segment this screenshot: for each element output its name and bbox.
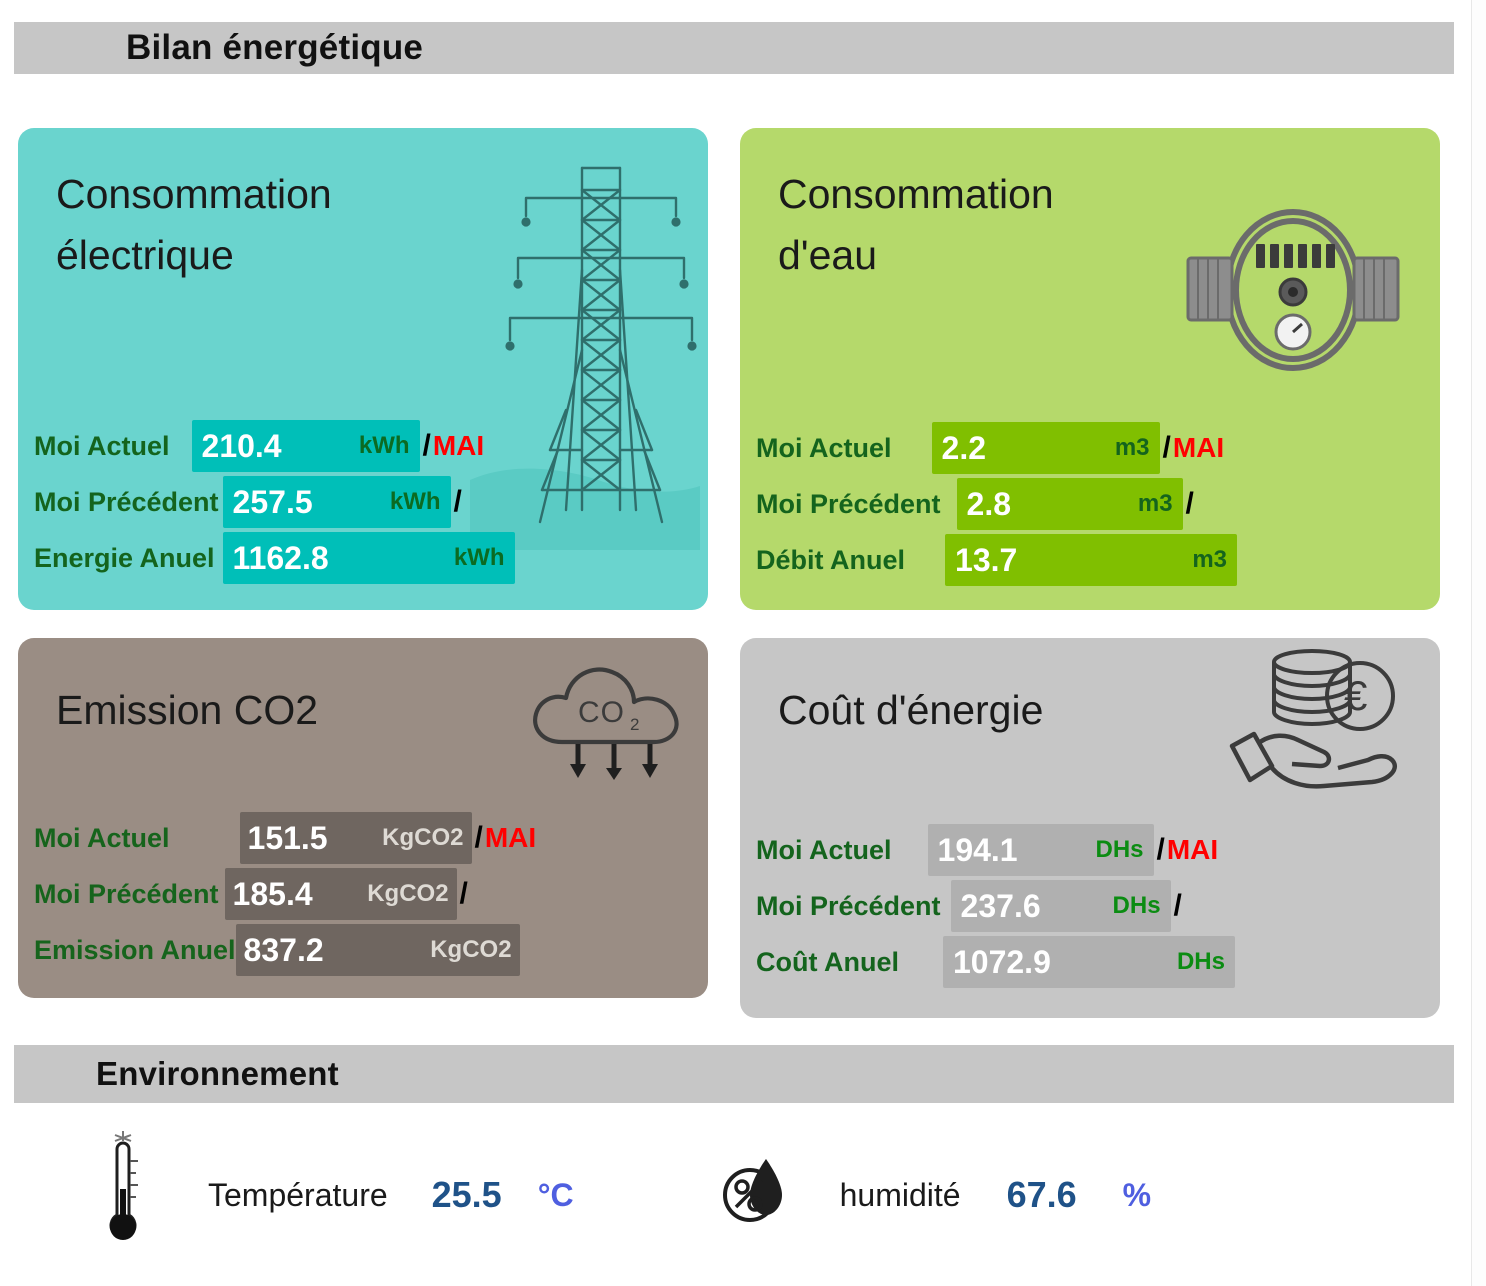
card-water-consumption[interactable]: Consommation d'eau (740, 128, 1440, 610)
svg-text:2: 2 (630, 715, 639, 734)
metric-value: 1072.9 (953, 944, 1051, 981)
metric-unit: m3 (1192, 546, 1227, 574)
metric-value: 194.1 (938, 832, 1018, 869)
metric-chip: 13.7 m3 (945, 534, 1237, 586)
metric-row: Moi Actuel 151.5 KgCO2 / MAI (34, 810, 708, 866)
humidity-reading: humidité 67.6 % (722, 1155, 1151, 1236)
humidity-value: 67.6 (1007, 1174, 1077, 1216)
metric-separator: / (423, 429, 431, 463)
metric-unit: m3 (1138, 490, 1173, 518)
metric-month: MAI (1173, 432, 1224, 464)
section-header-energy-balance: Bilan énergétique (14, 22, 1454, 74)
metric-value: 151.5 (248, 820, 328, 857)
metric-separator: / (454, 485, 462, 519)
metric-month: MAI (485, 822, 536, 854)
cost-metric-rows: Moi Actuel 194.1 DHs / MAI Moi Précédent… (756, 822, 1440, 990)
metric-label: Moi Précédent (34, 487, 219, 518)
metric-value: 837.2 (244, 932, 324, 969)
section-header-environment: Environnement (14, 1045, 1454, 1103)
metric-row: Moi Actuel 194.1 DHs / MAI (756, 822, 1440, 878)
card-electricity-consumption[interactable]: Consommation électrique (18, 128, 708, 610)
metric-unit: kWh (454, 544, 505, 572)
metric-separator: / (1157, 833, 1165, 867)
metric-value: 237.6 (961, 888, 1041, 925)
metric-unit: kWh (390, 488, 441, 516)
card-title-water: Consommation d'eau (778, 164, 1054, 285)
card-energy-cost[interactable]: Coût d'énergie € (740, 638, 1440, 1018)
co2-metric-rows: Moi Actuel 151.5 KgCO2 / MAI Moi Précéde… (34, 810, 708, 978)
metric-unit: DHs (1096, 836, 1144, 864)
water-metric-rows: Moi Actuel 2.2 m3 / MAI Moi Précédent 2.… (756, 420, 1440, 588)
metric-row: Energie Anuel 1162.8 kWh (34, 530, 708, 586)
metric-label: Moi Actuel (34, 823, 170, 854)
metric-label: Coût Anuel (756, 947, 899, 978)
temperature-unit: °C (538, 1177, 574, 1214)
metric-separator: / (460, 877, 468, 911)
metric-value: 1162.8 (233, 540, 329, 577)
dashboard-page: Bilan énergétique Consommation électriqu… (0, 0, 1486, 1286)
metric-separator: / (1174, 889, 1182, 923)
card-title-cost: Coût d'énergie (778, 680, 1043, 741)
metric-chip: 194.1 DHs (928, 824, 1154, 876)
metric-label: Moi Actuel (756, 835, 892, 866)
metric-value: 13.7 (955, 542, 1017, 579)
metric-chip: 185.4 KgCO2 (225, 868, 457, 920)
svg-text:CO: CO (578, 696, 625, 729)
metric-value: 210.4 (202, 428, 282, 465)
metric-chip: 1072.9 DHs (943, 936, 1235, 988)
metric-month: MAI (1167, 834, 1218, 866)
metric-value: 185.4 (233, 876, 313, 913)
temperature-label: Température (208, 1177, 388, 1214)
metric-unit: m3 (1115, 434, 1150, 462)
metric-label: Moi Précédent (756, 891, 941, 922)
metric-row: Moi Précédent 257.5 kWh / (34, 474, 708, 530)
money-in-hand-icon: € (1220, 642, 1420, 792)
humidity-label: humidité (840, 1177, 961, 1214)
metric-label: Moi Précédent (756, 489, 941, 520)
environment-readings: Température 25.5 °C humidité 67.6 % (14, 1120, 1454, 1270)
metric-chip: 2.8 m3 (957, 478, 1183, 530)
page-right-edge (1471, 0, 1486, 1286)
metric-chip: 151.5 KgCO2 (240, 812, 472, 864)
section-title-energy-balance: Bilan énergétique (126, 28, 423, 68)
thermometer-icon (100, 1127, 146, 1264)
metric-row: Débit Anuel 13.7 m3 (756, 532, 1440, 588)
metric-row: Moi Précédent 185.4 KgCO2 / (34, 866, 708, 922)
metric-chip: 210.4 kWh (192, 420, 420, 472)
metric-unit: kWh (359, 432, 410, 460)
svg-text:€: € (1344, 672, 1367, 719)
co2-cloud-icon: CO 2 (526, 650, 706, 780)
metric-month: MAI (433, 430, 484, 462)
humidity-unit: % (1123, 1177, 1151, 1214)
metric-chip: 2.2 m3 (932, 422, 1160, 474)
humidity-drop-icon (722, 1155, 788, 1236)
metric-row: Moi Précédent 237.6 DHs / (756, 878, 1440, 934)
temperature-value: 25.5 (432, 1174, 502, 1216)
metric-unit: KgCO2 (367, 880, 448, 908)
metric-chip: 1162.8 kWh (223, 532, 515, 584)
metric-label: Moi Actuel (756, 433, 892, 464)
electricity-metric-rows: Moi Actuel 210.4 kWh / MAI Moi Précédent… (34, 418, 708, 586)
metric-label: Moi Actuel (34, 431, 170, 462)
metric-separator: / (1163, 431, 1171, 465)
metric-value: 2.8 (967, 486, 1011, 523)
water-meter-icon (1178, 200, 1408, 380)
card-co2-emission[interactable]: Emission CO2 CO 2 Moi Actuel 1 (18, 638, 708, 998)
metric-row: Moi Actuel 210.4 kWh / MAI (34, 418, 708, 474)
section-title-environment: Environnement (96, 1055, 339, 1093)
metric-row: Moi Précédent 2.8 m3 / (756, 476, 1440, 532)
metric-label: Débit Anuel (756, 545, 905, 576)
metric-unit: DHs (1113, 892, 1161, 920)
metric-chip: 237.6 DHs (951, 880, 1171, 932)
card-title-electricity: Consommation électrique (56, 164, 332, 285)
card-title-co2: Emission CO2 (56, 680, 318, 741)
metric-row: Coût Anuel 1072.9 DHs (756, 934, 1440, 990)
metric-separator: / (1186, 487, 1194, 521)
metric-row: Emission Anuel 837.2 KgCO2 (34, 922, 708, 978)
metric-chip: 257.5 kWh (223, 476, 451, 528)
metric-value: 2.2 (942, 430, 986, 467)
metric-value: 257.5 (233, 484, 313, 521)
metric-unit: KgCO2 (430, 936, 511, 964)
metric-label: Emission Anuel (34, 935, 236, 966)
metric-label: Energie Anuel (34, 543, 215, 574)
metric-chip: 837.2 KgCO2 (236, 924, 520, 976)
metric-row: Moi Actuel 2.2 m3 / MAI (756, 420, 1440, 476)
metric-label: Moi Précédent (34, 879, 219, 910)
metric-separator: / (475, 821, 483, 855)
metric-unit: KgCO2 (382, 824, 463, 852)
temperature-reading: Température 25.5 °C (100, 1127, 574, 1264)
metric-unit: DHs (1177, 948, 1225, 976)
